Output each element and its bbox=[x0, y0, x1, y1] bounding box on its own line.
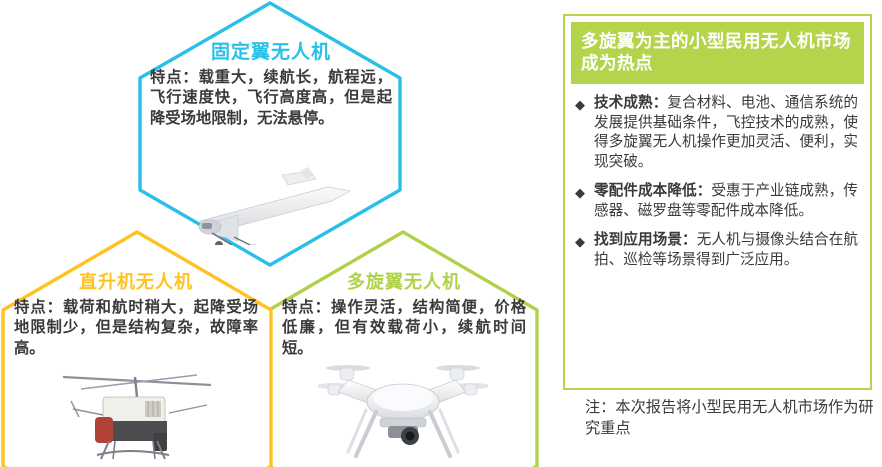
list-item-lead: 零配件成本降低 bbox=[594, 183, 697, 199]
list-item[interactable]: ◆ 零配件成本降低：受惠于产业链成熟，传感器、磁罗盘等零配件成本降低。 bbox=[575, 182, 858, 222]
list-item-text: 零配件成本降低：受惠于产业链成熟，传感器、磁罗盘等零配件成本降低。 bbox=[594, 182, 858, 222]
diamond-bullet-icon: ◆ bbox=[575, 231, 585, 248]
list-item[interactable]: ◆ 找到应用场景：无人机与摄像头结合在航拍、巡检等场景得到广泛应用。 bbox=[575, 231, 858, 271]
list-item-separator: ： bbox=[653, 95, 668, 111]
hexagon-body-fixed-wing: 特点：载重大，续航长，航程远，飞行速度快，飞行高度高，但是起降受场地限制，无法悬… bbox=[150, 68, 392, 129]
slide-canvas: 固定翼无人机 特点：载重大，续航长，航程远，飞行速度快，飞行高度高，但是起降受场… bbox=[0, 0, 882, 467]
fixed-wing-drone-photo bbox=[182, 155, 362, 245]
list-item-separator: ： bbox=[682, 232, 697, 248]
diamond-bullet-icon: ◆ bbox=[575, 94, 585, 111]
hexagon-body-multirotor: 特点：操作灵活，结构简便，价格低廉，但有效载荷小，续航时间短。 bbox=[282, 298, 526, 359]
hexagon-title-fixed-wing: 固定翼无人机 bbox=[150, 37, 392, 64]
hexagon-card-multirotor: 多旋翼无人机 特点：操作灵活，结构简便，价格低廉，但有效载荷小，续航时间短。 bbox=[282, 268, 526, 359]
hexagon-title-multirotor: 多旋翼无人机 bbox=[282, 268, 526, 294]
hexagon-card-helicopter: 直升机无人机 特点：载荷和航时稍大，起降受场地限制少，但是结构复杂，故障率高。 bbox=[14, 268, 258, 359]
list-item-text: 找到应用场景：无人机与摄像头结合在航拍、巡检等场景得到广泛应用。 bbox=[594, 231, 858, 271]
diamond-bullet-icon: ◆ bbox=[575, 182, 585, 199]
panel-footnote: 注：本次报告将小型民用无人机市场作为研究重点 bbox=[585, 398, 875, 439]
list-item[interactable]: ◆ 技术成熟：复合材料、电池、通信系统的发展提供基础条件，飞控技术的成熟，使得多… bbox=[575, 94, 858, 173]
list-item-lead: 找到应用场景 bbox=[594, 232, 682, 248]
list-item-separator: ： bbox=[697, 183, 712, 199]
market-highlight-panel: 多旋翼为主的小型民用无人机市场成为热点 ◆ 技术成熟：复合材料、电池、通信系统的… bbox=[563, 14, 872, 390]
helicopter-drone-photo bbox=[57, 355, 217, 460]
hexagon-card-fixed-wing: 固定翼无人机 特点：载重大，续航长，航程远，飞行速度快，飞行高度高，但是起降受场… bbox=[150, 37, 392, 129]
hexagon-body-helicopter: 特点：载荷和航时稍大，起降受场地限制少，但是结构复杂，故障率高。 bbox=[14, 298, 258, 359]
panel-bullet-list: ◆ 技术成熟：复合材料、电池、通信系统的发展提供基础条件，飞控技术的成熟，使得多… bbox=[575, 94, 858, 271]
drone-type-hexagon-group: 固定翼无人机 特点：载重大，续航长，航程远，飞行速度快，飞行高度高，但是起降受场… bbox=[0, 0, 560, 467]
multirotor-drone-photo bbox=[318, 352, 488, 464]
hexagon-title-helicopter: 直升机无人机 bbox=[14, 268, 258, 294]
list-item-lead: 技术成熟 bbox=[594, 95, 653, 111]
panel-header-title: 多旋翼为主的小型民用无人机市场成为热点 bbox=[571, 22, 864, 84]
list-item-text: 技术成熟：复合材料、电池、通信系统的发展提供基础条件，飞控技术的成熟，使得多旋翼… bbox=[594, 94, 858, 173]
